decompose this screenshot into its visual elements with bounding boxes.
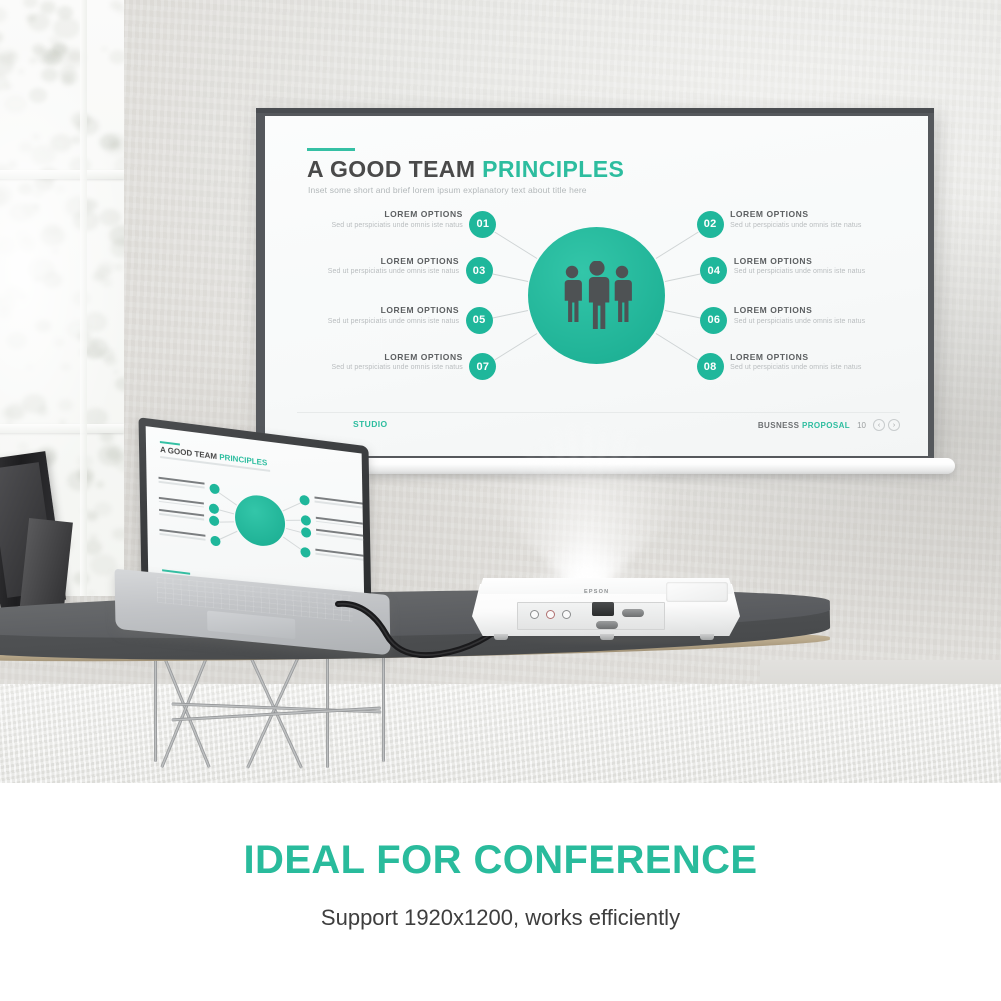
table-leg-segment [154, 650, 157, 762]
window-mullion-vertical [80, 0, 87, 596]
diagram-spoke-01 [494, 232, 537, 259]
diagram-option-08: LOREM OPTIONSSed ut perspiciatis unde om… [730, 352, 928, 372]
mini-option-01 [159, 477, 205, 488]
diagram-option-02: LOREM OPTIONSSed ut perspiciatis unde om… [730, 209, 928, 229]
footer-right-group: BUSNESS PROPOSAL 10 ‹ › [758, 419, 900, 431]
option-desc-07: Sed ut perspiciatis unde omnis iste natu… [265, 364, 463, 371]
caption-section: IDEAL FOR CONFERENCE Support 1920x1200, … [0, 783, 1001, 1001]
mini-badge-05 [210, 516, 220, 527]
mini-option-05 [159, 509, 205, 520]
title-rule [307, 148, 355, 151]
product-marketing-image: A GOOD TEAM PRINCIPLES Inset some short … [0, 0, 1001, 1001]
mini-spoke-02 [282, 502, 301, 511]
mini-option-07 [159, 529, 205, 540]
slide-subtitle: Inset some short and brief lorem ipsum e… [308, 185, 587, 195]
option-desc-08: Sed ut perspiciatis unde omnis iste natu… [730, 364, 928, 371]
slide-title-dark: A GOOD TEAM [307, 156, 482, 182]
diagram-option-05: LOREM OPTIONSSed ut perspiciatis unde om… [265, 305, 459, 325]
footer-divider [297, 412, 900, 413]
chevron-left-icon[interactable]: ‹ [873, 419, 885, 431]
projector-port-panel [517, 602, 665, 630]
caption-headline: IDEAL FOR CONFERENCE [244, 838, 758, 883]
photo-scene: A GOOD TEAM PRINCIPLES Inset some short … [0, 0, 1001, 783]
mini-spoke-06 [286, 528, 301, 533]
option-title-03: LOREM OPTIONS [265, 256, 459, 266]
mini-badge-02 [300, 495, 310, 506]
option-desc-01: Sed ut perspiciatis unde omnis iste natu… [265, 222, 463, 229]
vga-port-upper-icon [622, 609, 644, 617]
option-title-05: LOREM OPTIONS [265, 305, 459, 315]
diagram-spoke-05 [493, 310, 528, 318]
slide-title: A GOOD TEAM PRINCIPLES [307, 156, 624, 183]
vga-port-lower-icon [596, 621, 618, 629]
mini-hub [235, 492, 286, 548]
projected-slide: A GOOD TEAM PRINCIPLES Inset some short … [265, 116, 928, 456]
mini-option-03 [159, 496, 205, 507]
mini-option-08 [315, 549, 364, 562]
option-title-01: LOREM OPTIONS [265, 209, 463, 219]
diagram-spoke-08 [656, 333, 699, 360]
diagram-badge-05[interactable]: 05 [466, 307, 493, 334]
diagram-option-04: LOREM OPTIONSSed ut perspiciatis unde om… [734, 256, 928, 276]
option-desc-06: Sed ut perspiciatis unde omnis iste natu… [734, 318, 928, 325]
diagram-spoke-04 [665, 273, 700, 281]
team-diagram: 01LOREM OPTIONSSed ut perspiciatis unde … [265, 204, 928, 404]
rca-jack-white-icon [530, 610, 539, 619]
diagram-badge-06[interactable]: 06 [700, 307, 727, 334]
projection-screen: A GOOD TEAM PRINCIPLES Inset some short … [256, 108, 934, 463]
projector: EPSON [472, 570, 740, 650]
diagram-spoke-03 [493, 273, 528, 281]
caption-subline: Support 1920x1200, works efficiently [321, 905, 680, 931]
option-title-06: LOREM OPTIONS [734, 305, 928, 315]
window-mullion-bottom [0, 424, 124, 433]
diagram-badge-04[interactable]: 04 [700, 257, 727, 284]
window-mullion-top [0, 170, 124, 179]
option-desc-05: Sed ut perspiciatis unde omnis iste natu… [265, 318, 459, 325]
option-title-02: LOREM OPTIONS [730, 209, 928, 219]
mini-option-06 [316, 529, 365, 542]
diagram-badge-03[interactable]: 03 [466, 257, 493, 284]
footer-studio-label: STUDIO [353, 419, 388, 429]
mini-option-04 [315, 516, 364, 529]
diagram-hub [528, 227, 665, 364]
footer-proposal-prefix: BUSNESS [758, 421, 802, 430]
option-desc-03: Sed ut perspiciatis unde omnis iste natu… [265, 268, 459, 275]
diagram-badge-07[interactable]: 07 [469, 353, 496, 380]
mini-spoke-01 [219, 492, 238, 506]
mini-badge-06 [301, 527, 311, 538]
mini-badge-07 [210, 535, 220, 546]
chevron-right-icon[interactable]: › [888, 419, 900, 431]
footer-proposal-accent: PROPOSAL [802, 421, 850, 430]
diagram-badge-08[interactable]: 08 [697, 353, 724, 380]
diagram-badge-02[interactable]: 02 [697, 211, 724, 238]
mini-spoke-05 [219, 521, 234, 522]
option-title-04: LOREM OPTIONS [734, 256, 928, 266]
option-desc-02: Sed ut perspiciatis unde omnis iste natu… [730, 222, 928, 229]
rca-jack-yellow-icon [562, 610, 571, 619]
mini-badge-08 [300, 547, 310, 558]
footer-nav: ‹ › [873, 419, 900, 431]
mini-spoke-04 [286, 520, 301, 521]
footer-page-number: 10 [857, 421, 866, 430]
diagram-option-03: LOREM OPTIONSSed ut perspiciatis unde om… [265, 256, 459, 276]
option-title-07: LOREM OPTIONS [265, 352, 463, 362]
slide-title-accent: PRINCIPLES [482, 156, 624, 182]
mini-badge-01 [209, 483, 219, 494]
footer-proposal-label: BUSNESS PROPOSAL [758, 421, 850, 430]
mini-badge-03 [209, 503, 219, 514]
projector-foot-right [700, 634, 714, 640]
option-title-08: LOREM OPTIONS [730, 352, 928, 362]
mini-badge-04 [300, 514, 310, 525]
diagram-option-01: LOREM OPTIONSSed ut perspiciatis unde om… [265, 209, 463, 229]
diagram-spoke-07 [494, 333, 537, 360]
mini-spoke-03 [219, 510, 234, 515]
projector-foot-left [494, 634, 508, 640]
rca-jack-red-icon [546, 610, 555, 619]
diagram-spoke-06 [665, 310, 700, 318]
projector-brand-label: EPSON [584, 589, 609, 595]
mini-spoke-08 [283, 537, 302, 551]
diagram-option-06: LOREM OPTIONSSed ut perspiciatis unde om… [734, 305, 928, 325]
diagram-badge-01[interactable]: 01 [469, 211, 496, 238]
team-people-icon [553, 261, 641, 331]
hdmi-port-connector [592, 602, 614, 616]
mini-option-02 [315, 497, 365, 510]
diagram-spoke-02 [656, 232, 699, 259]
diagram-option-07: LOREM OPTIONSSed ut perspiciatis unde om… [265, 352, 463, 372]
option-desc-04: Sed ut perspiciatis unde omnis iste natu… [734, 268, 928, 275]
mini-spoke-07 [219, 531, 238, 540]
projector-foot-center [600, 634, 614, 640]
projector-lens-cover [666, 582, 728, 602]
